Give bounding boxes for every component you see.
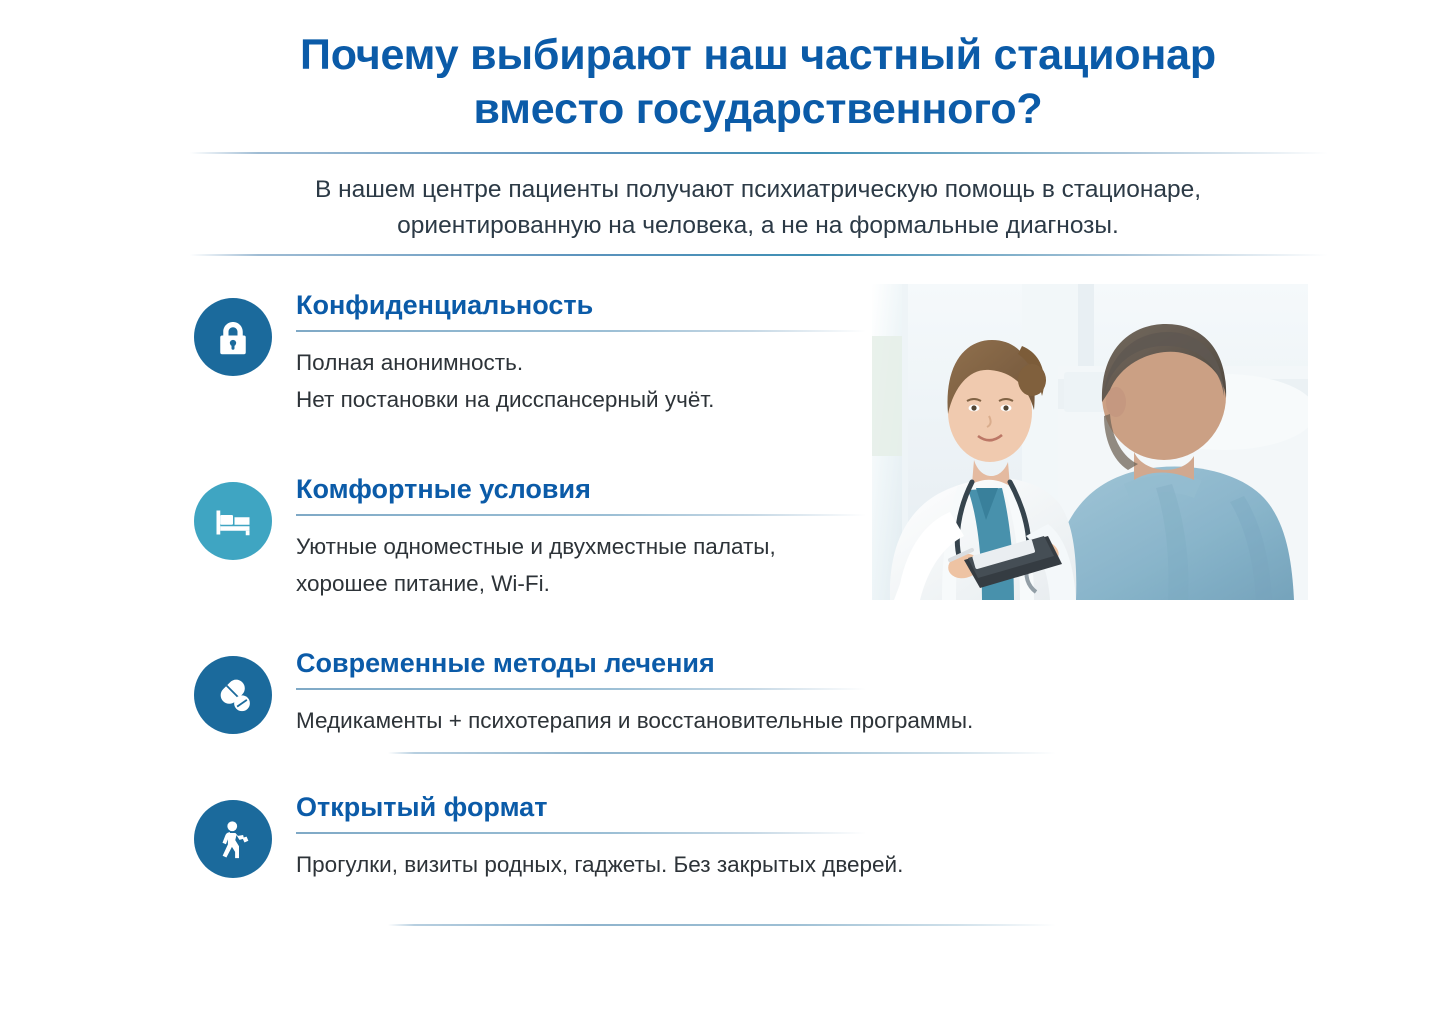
feature-description-line-2: хорошее питание, Wi-Fi. [296, 566, 866, 602]
feature-body: Конфиденциальность Полная анонимность. Н… [296, 290, 866, 418]
feature-description-line-1: Уютные одноместные и двухместные палаты, [296, 529, 866, 565]
bed-icon [194, 482, 272, 560]
feature-body: Комфортные условия Уютные одноместные и … [296, 474, 866, 602]
feature-title-underline [296, 688, 866, 690]
feature-title-underline [296, 832, 866, 834]
feature-description: Полная анонимность. Нет постановки на ди… [296, 345, 866, 418]
divider-feature-2 [388, 924, 1056, 926]
divider-top [190, 152, 1328, 154]
feature-title: Открытый формат [296, 792, 866, 832]
feature-title-underline [296, 514, 866, 516]
feature-description-line-2: Нет постановки на дисспансерный учёт. [296, 382, 866, 418]
feature-title: Комфортные условия [296, 474, 866, 514]
subtitle-line-1: В нашем центре пациенты получают психиат… [188, 172, 1328, 208]
walking-person-icon [194, 800, 272, 878]
page-title-line-2: вместо государственного? [188, 82, 1328, 136]
feature-description: Прогулки, визиты родных, гаджеты. Без за… [296, 847, 1056, 883]
feature-description-line-1: Прогулки, визиты родных, гаджеты. Без за… [296, 847, 1056, 883]
feature-item-comfort: Комфортные условия Уютные одноместные и … [194, 474, 866, 614]
feature-item-open-format: Открытый формат Прогулки, визиты родных,… [194, 792, 866, 902]
feature-item-treatment: Современные методы лечения Медикаменты +… [194, 648, 866, 758]
pills-icon [194, 656, 272, 734]
page-title: Почему выбирают наш частный стационар вм… [188, 28, 1328, 136]
divider-below-subtitle [190, 254, 1328, 256]
feature-title: Современные методы лечения [296, 648, 866, 688]
feature-description: Медикаменты + психотерапия и восстановит… [296, 703, 1076, 739]
feature-description: Уютные одноместные и двухместные палаты,… [296, 529, 866, 602]
feature-body: Современные методы лечения Медикаменты +… [296, 648, 866, 740]
lock-icon [194, 298, 272, 376]
feature-title: Конфиденциальность [296, 290, 866, 330]
feature-title-underline [296, 330, 866, 332]
feature-body: Открытый формат Прогулки, визиты родных,… [296, 792, 866, 884]
slide-root: Почему выбирают наш частный стационар вм… [0, 0, 1456, 1024]
feature-description-line-1: Полная анонимность. [296, 345, 866, 381]
subtitle-line-2: ориентированную на человека, а не на фор… [188, 208, 1328, 244]
doctor-consulting-patient-photo [872, 284, 1308, 600]
feature-item-confidentiality: Конфиденциальность Полная анонимность. Н… [194, 290, 866, 430]
subtitle: В нашем центре пациенты получают психиат… [188, 172, 1328, 245]
feature-list: Конфиденциальность Полная анонимность. Н… [194, 290, 866, 902]
feature-description-line-1: Медикаменты + психотерапия и восстановит… [296, 703, 1076, 739]
page-title-line-1: Почему выбирают наш частный стационар [188, 28, 1328, 82]
